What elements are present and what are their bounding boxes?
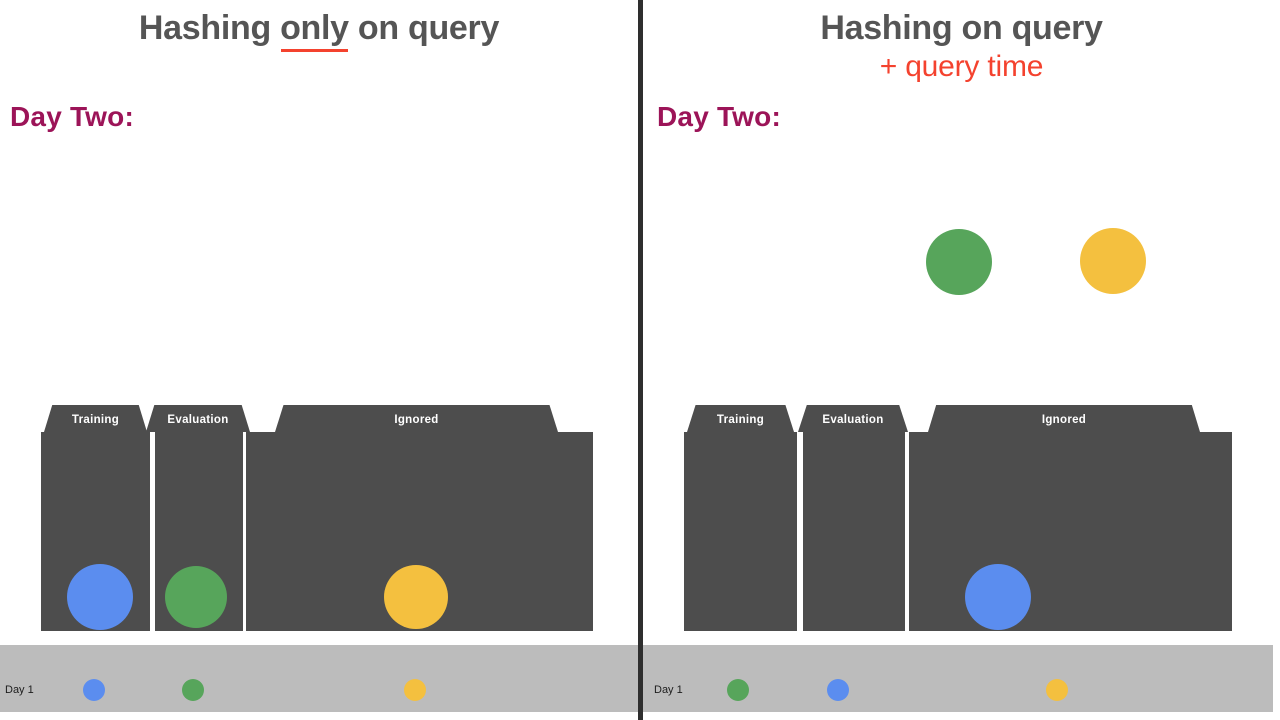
day-two-label: Day Two:	[657, 101, 781, 133]
bin-funnel-ignored: Ignored	[928, 405, 1200, 432]
bin-training	[684, 432, 797, 631]
ball-blue	[965, 564, 1031, 630]
panel-title-emphasis: only	[280, 10, 349, 47]
panel-title-suffix: on query	[349, 9, 499, 47]
timeline-day-label: Day 1	[654, 684, 683, 696]
bin-label-training: Training	[72, 414, 119, 426]
panel-title: Hashing only on query	[0, 10, 638, 47]
panel-subtitle: + query time	[643, 50, 1280, 84]
timeline-strip: Day 1	[0, 645, 638, 712]
panel-hashing-on-query-plus-time: Hashing on query+ query timeDay Two:Trai…	[643, 0, 1280, 720]
panel-divider	[638, 0, 643, 720]
timeline-day-label: Day 1	[5, 684, 34, 696]
bin-label-training: Training	[717, 414, 764, 426]
floating-ball-green	[926, 229, 992, 295]
timeline-dot-blue	[83, 679, 105, 701]
bin-label-ignored: Ignored	[1042, 414, 1086, 426]
ball-blue	[67, 564, 133, 630]
timeline-dot-yellow	[404, 679, 426, 701]
timeline-dot-green	[727, 679, 749, 701]
floating-ball-yellow	[1080, 228, 1146, 294]
panel-title: Hashing on query	[643, 10, 1280, 47]
ball-green	[165, 566, 227, 628]
ball-yellow	[384, 565, 448, 629]
bin-label-evaluation: Evaluation	[167, 414, 228, 426]
bin-funnel-ignored: Ignored	[275, 405, 558, 432]
panel-hashing-only-on-query: Hashing only on queryDay Two:TrainingEva…	[0, 0, 638, 720]
bin-label-evaluation: Evaluation	[822, 414, 883, 426]
panel-title-text: Hashing	[139, 9, 280, 47]
timeline-dot-blue	[827, 679, 849, 701]
day-two-label: Day Two:	[10, 101, 134, 133]
bin-funnel-evaluation: Evaluation	[146, 405, 250, 432]
bin-ignored	[909, 432, 1232, 631]
timeline-dot-yellow	[1046, 679, 1068, 701]
timeline-dot-green	[182, 679, 204, 701]
timeline-strip: Day 1	[643, 645, 1273, 712]
bin-label-ignored: Ignored	[394, 414, 438, 426]
slide-canvas: Hashing only on queryDay Two:TrainingEva…	[0, 0, 1280, 720]
panel-title-text: Hashing on query	[820, 9, 1102, 47]
bin-funnel-evaluation: Evaluation	[798, 405, 908, 432]
bin-funnel-training: Training	[44, 405, 147, 432]
bin-funnel-training: Training	[687, 405, 794, 432]
bin-evaluation	[803, 432, 905, 631]
